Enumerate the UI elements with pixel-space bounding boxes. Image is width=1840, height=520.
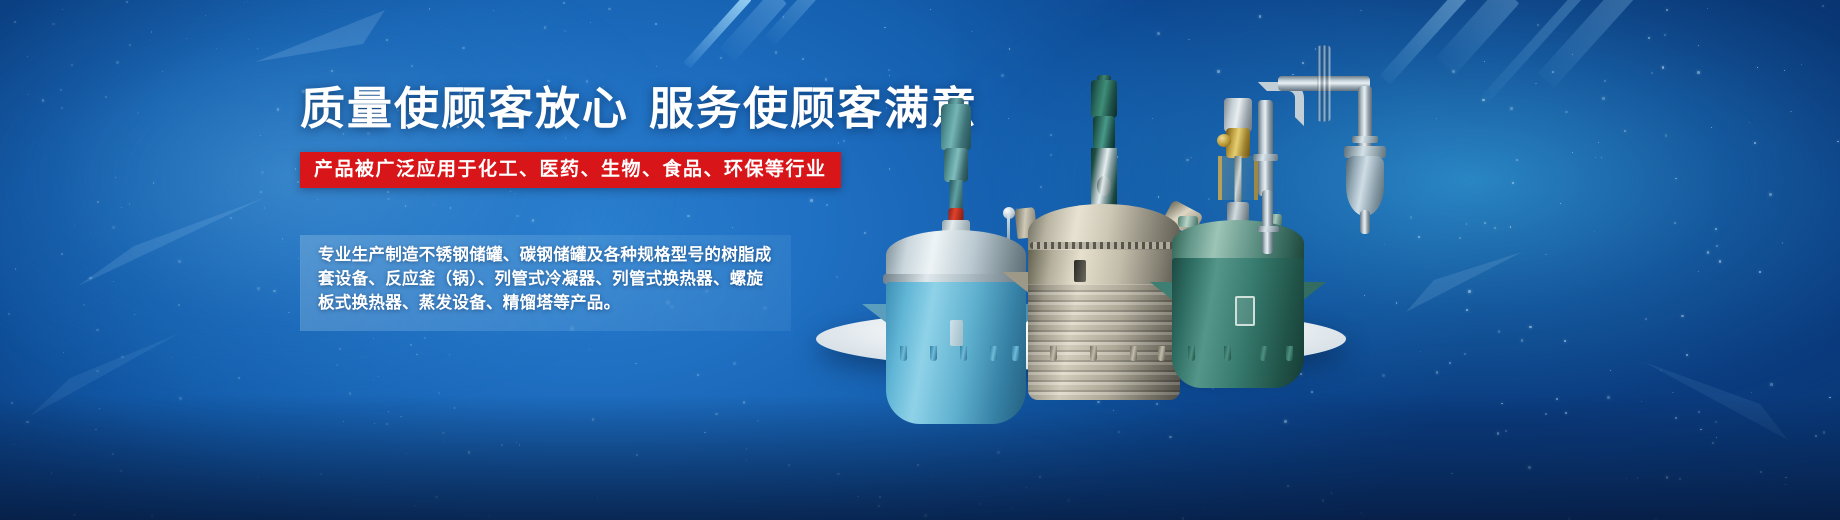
vessel-leg	[1050, 346, 1057, 361]
banner-text-column: 质量使顾客放心服务使顾客满意 产品被广泛应用于化工、医药、生物、食品、环保等行业…	[300, 84, 860, 188]
vessel-leg	[990, 346, 997, 361]
vessel-leg	[1090, 346, 1097, 361]
stainless-steel-reactor-blue	[886, 104, 1026, 348]
promo-banner: 质量使顾客放心服务使顾客满意 产品被广泛应用于化工、医药、生物、食品、环保等行业…	[0, 0, 1840, 520]
downcomer-flange	[1352, 136, 1378, 143]
vessel-leg	[930, 346, 937, 361]
pipe-rib-texture	[1318, 46, 1331, 122]
vessel-leg	[960, 346, 967, 361]
bolt-ring	[1030, 242, 1178, 249]
vessel-leg	[1012, 346, 1019, 361]
vessel-leg	[1286, 346, 1293, 361]
vessel-leg	[1130, 346, 1137, 361]
headline-part-1: 质量使顾客放心	[300, 83, 629, 134]
banner-description: 专业生产制造不锈钢储罐、碳钢储罐及各种规格型号的树脂成套设备、反应釜（锅）、列管…	[318, 244, 780, 316]
vessel-leg	[1260, 346, 1267, 361]
jacketed-reactor-steel	[1028, 80, 1180, 348]
vessel-leg	[900, 346, 907, 361]
agitator-motor	[1091, 80, 1117, 118]
brass-knob-icon	[1217, 134, 1231, 147]
sight-glass	[950, 320, 963, 346]
riser-flange	[1253, 154, 1278, 161]
probe-rod	[1007, 214, 1010, 240]
vessel-leg	[1188, 346, 1195, 361]
gear-reducer	[944, 148, 968, 182]
shaft-coupler	[1097, 176, 1111, 196]
vessel-leg	[1158, 346, 1165, 361]
condenser-vessel	[1346, 156, 1384, 216]
support-lug-left	[1002, 272, 1030, 294]
product-scene	[800, 48, 1420, 378]
support-lug-left	[862, 304, 888, 324]
support-lug-left	[1150, 282, 1174, 301]
vessel-upper-band	[1028, 250, 1180, 284]
banner-headline: 质量使顾客放心服务使顾客满意	[300, 84, 860, 134]
condenser-drain-pipe	[1360, 210, 1370, 234]
vessel-leg	[1224, 346, 1231, 361]
sight-glass	[1074, 260, 1086, 282]
vessel-body	[886, 282, 1026, 424]
return-pipe-flange	[1257, 226, 1279, 232]
condenser-piping-assembly	[1232, 58, 1412, 308]
lower-return-pipe	[1262, 190, 1273, 254]
gear-reducer	[1093, 116, 1115, 150]
banner-tagline-badge: 产品被广泛应用于化工、医药、生物、食品、环保等行业	[300, 152, 841, 188]
agitator-motor	[941, 104, 971, 150]
